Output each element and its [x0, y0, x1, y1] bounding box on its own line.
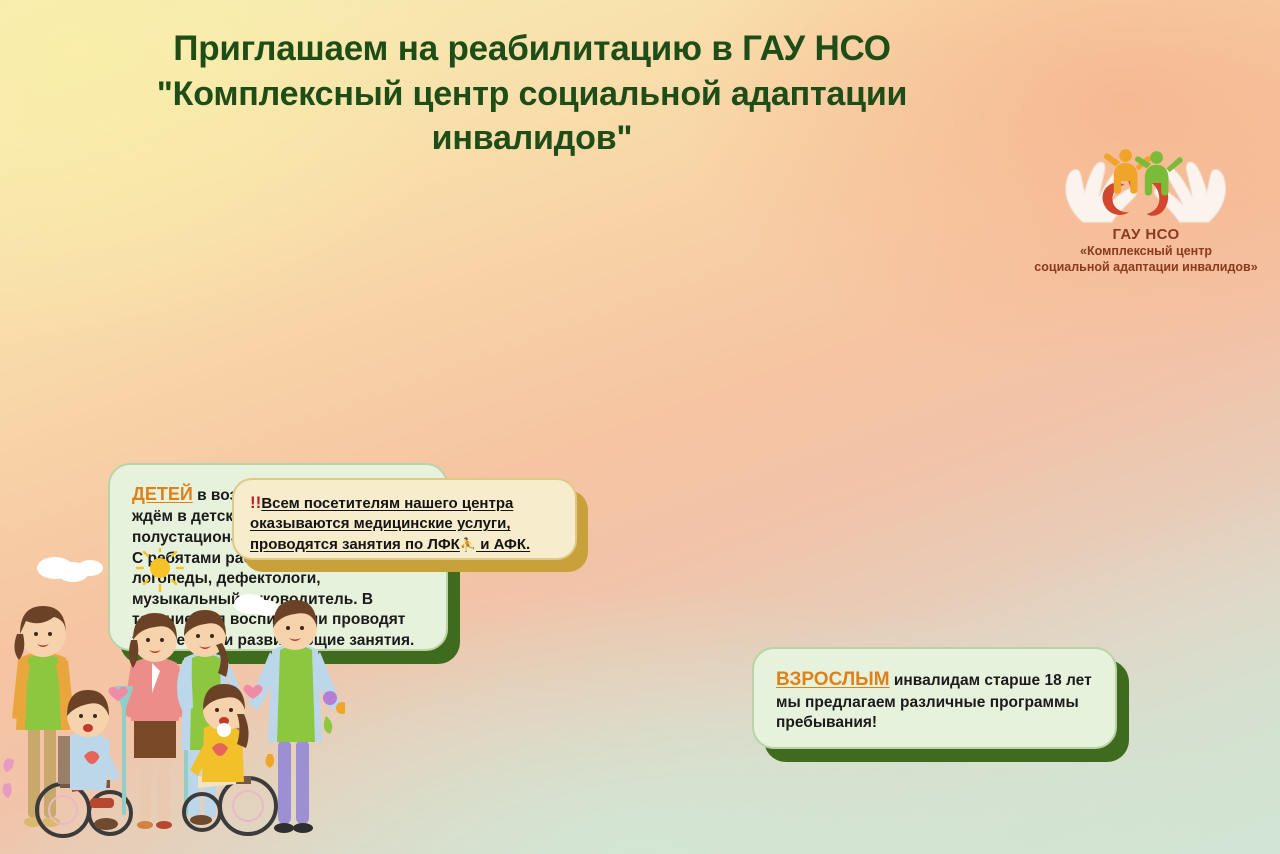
logo-center-name-line-2: социальной адаптации инвалидов»	[1022, 260, 1270, 276]
page-title: Приглашаем на реабилитацию в ГАУ НСО "Ко…	[92, 26, 972, 160]
logo-org-name: ГАУ НСО	[1022, 226, 1270, 245]
medical-line-3b: и АФК.	[476, 536, 530, 553]
double-exclamation-icon: !!	[250, 493, 261, 512]
title-line-2: "Комплексный центр социальной адаптации	[92, 72, 972, 116]
adults-highlight: ВЗРОСЛЫМ	[776, 669, 890, 690]
children-highlight: ДЕТЕЙ	[132, 484, 193, 504]
title-line-1: Приглашаем на реабилитацию в ГАУ НСО	[92, 26, 972, 72]
logo-center-name-line-1: «Комплексный центр	[1022, 244, 1270, 260]
poster-canvas: Приглашаем на реабилитацию в ГАУ НСО "Ко…	[0, 0, 1280, 854]
woman-with-crutches	[117, 613, 193, 829]
logo-text-block: ГАУ НСО «Комплексный центр социальной ад…	[1022, 226, 1270, 276]
organization-logo: ГАУ НСО «Комплексный центр социальной ад…	[1022, 142, 1270, 276]
medical-line-2: оказываются медицинские услуги,	[250, 515, 511, 532]
title-line-3: инвалидов"	[92, 116, 972, 160]
exercise-emoji-icon: ⛹	[460, 537, 476, 552]
adults-info-panel: ВЗРОСЛЫМ инвалидам старше 18 лет мы пред…	[752, 647, 1117, 749]
medical-line-1: Всем посетителям нашего центра	[261, 495, 513, 512]
hands-with-figures-logo-icon	[1050, 142, 1241, 224]
sun-icon	[137, 548, 183, 591]
people-with-disabilities-and-volunteers-illustration	[0, 548, 345, 854]
